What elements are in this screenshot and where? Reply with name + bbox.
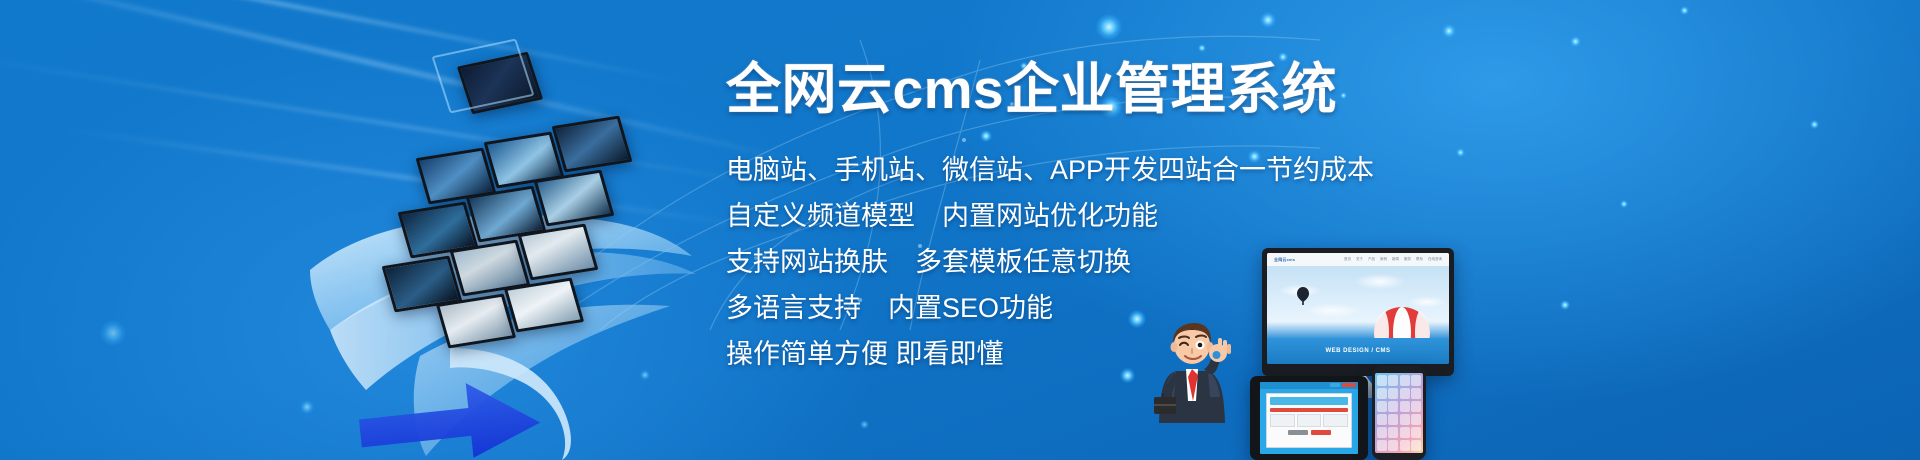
app-icon[interactable] bbox=[1388, 427, 1398, 438]
bokeh-dot bbox=[1620, 200, 1628, 208]
app-icon[interactable] bbox=[1400, 440, 1410, 451]
app-icon[interactable] bbox=[1377, 375, 1387, 386]
app-icon[interactable] bbox=[1400, 375, 1410, 386]
small-balloon-icon bbox=[1297, 287, 1309, 305]
nav-item[interactable]: 首页 bbox=[1344, 257, 1351, 262]
app-icon[interactable] bbox=[1377, 388, 1387, 399]
app-icon[interactable] bbox=[1377, 414, 1387, 425]
app-icon[interactable] bbox=[1411, 401, 1421, 412]
nav-item[interactable]: 案例 bbox=[1380, 257, 1387, 262]
app-icon[interactable] bbox=[1411, 388, 1421, 399]
floating-screen bbox=[504, 278, 584, 333]
app-icon[interactable] bbox=[1400, 401, 1410, 412]
bokeh-dot bbox=[1560, 300, 1570, 310]
app-icon[interactable] bbox=[1388, 414, 1398, 425]
page-title: 全网云cms企业管理系统 bbox=[726, 62, 1546, 117]
app-icon[interactable] bbox=[1388, 401, 1398, 412]
caption-text: WEB DESIGN / CMS bbox=[1325, 348, 1390, 354]
nav-item[interactable]: 联系 bbox=[1416, 257, 1423, 262]
bokeh-dot bbox=[1810, 120, 1819, 129]
floating-screen bbox=[518, 224, 599, 281]
device-cluster: WEB DESIGN / CMS 全网云cms 首页 关于 产品 案例 新闻 服… bbox=[1250, 248, 1465, 460]
app-icon[interactable] bbox=[1411, 427, 1421, 438]
nav-item[interactable]: 服务 bbox=[1404, 257, 1411, 262]
bokeh-dot bbox=[300, 400, 314, 414]
feature-item: 电脑站、手机站、微信站、APP开发四站合一节约成本 bbox=[726, 157, 1546, 184]
ipad-toolbar bbox=[1260, 382, 1358, 389]
app-icon[interactable] bbox=[1388, 440, 1398, 451]
nav-item[interactable]: 产品 bbox=[1368, 257, 1375, 262]
bokeh-dot bbox=[860, 420, 869, 429]
feature-item: 自定义频道模型 内置网站优化功能 bbox=[726, 203, 1546, 230]
ipad-screen bbox=[1260, 382, 1358, 454]
bokeh-dot bbox=[1442, 24, 1456, 38]
mockup-navbar: 全网云cms 首页 关于 产品 案例 新闻 服务 联系 在线咨询 bbox=[1267, 253, 1449, 266]
bokeh-dot bbox=[1680, 6, 1689, 15]
iphone-mockup bbox=[1372, 366, 1426, 460]
ipad-mockup bbox=[1250, 376, 1368, 460]
hero-banner: 全网云cms企业管理系统 电脑站、手机站、微信站、APP开发四站合一节约成本 自… bbox=[0, 0, 1920, 460]
site-banner-caption: WEB DESIGN / CMS bbox=[1267, 338, 1449, 364]
app-icon[interactable] bbox=[1388, 375, 1398, 386]
bokeh-dot bbox=[1120, 368, 1135, 383]
iphone-home-screen bbox=[1375, 373, 1423, 453]
ipad-content-panel bbox=[1266, 393, 1352, 448]
app-icon[interactable] bbox=[1411, 375, 1421, 386]
app-icon[interactable] bbox=[1400, 414, 1410, 425]
app-icon[interactable] bbox=[1400, 388, 1410, 399]
bokeh-dot bbox=[1570, 36, 1581, 47]
app-icon[interactable] bbox=[1388, 388, 1398, 399]
mockup-nav-menu: 首页 关于 产品 案例 新闻 服务 联系 在线咨询 bbox=[1344, 257, 1442, 262]
app-icon[interactable] bbox=[1377, 401, 1387, 412]
floating-screen bbox=[436, 294, 516, 349]
nav-item[interactable]: 新闻 bbox=[1392, 257, 1399, 262]
floating-screen bbox=[534, 170, 615, 227]
imac-mockup: WEB DESIGN / CMS 全网云cms 首页 关于 产品 案例 新闻 服… bbox=[1262, 248, 1454, 376]
app-icon[interactable] bbox=[1411, 414, 1421, 425]
floating-screen bbox=[552, 116, 633, 173]
app-icon[interactable] bbox=[1400, 427, 1410, 438]
nav-item[interactable]: 关于 bbox=[1356, 257, 1363, 262]
bokeh-dot bbox=[640, 370, 650, 380]
floating-screens-montage bbox=[330, 40, 630, 420]
mockup-site-logo: 全网云cms bbox=[1274, 257, 1295, 263]
imac-screen: WEB DESIGN / CMS 全网云cms 首页 关于 产品 案例 新闻 服… bbox=[1267, 253, 1449, 364]
ok-hand-icon bbox=[1209, 338, 1231, 362]
app-icon[interactable] bbox=[1377, 427, 1387, 438]
nav-item[interactable]: 在线咨询 bbox=[1428, 257, 1442, 262]
businessman-ok-gesture-icon bbox=[1152, 305, 1232, 423]
bokeh-dot bbox=[100, 320, 126, 346]
app-icon[interactable] bbox=[1377, 440, 1387, 451]
app-icon[interactable] bbox=[1411, 440, 1421, 451]
